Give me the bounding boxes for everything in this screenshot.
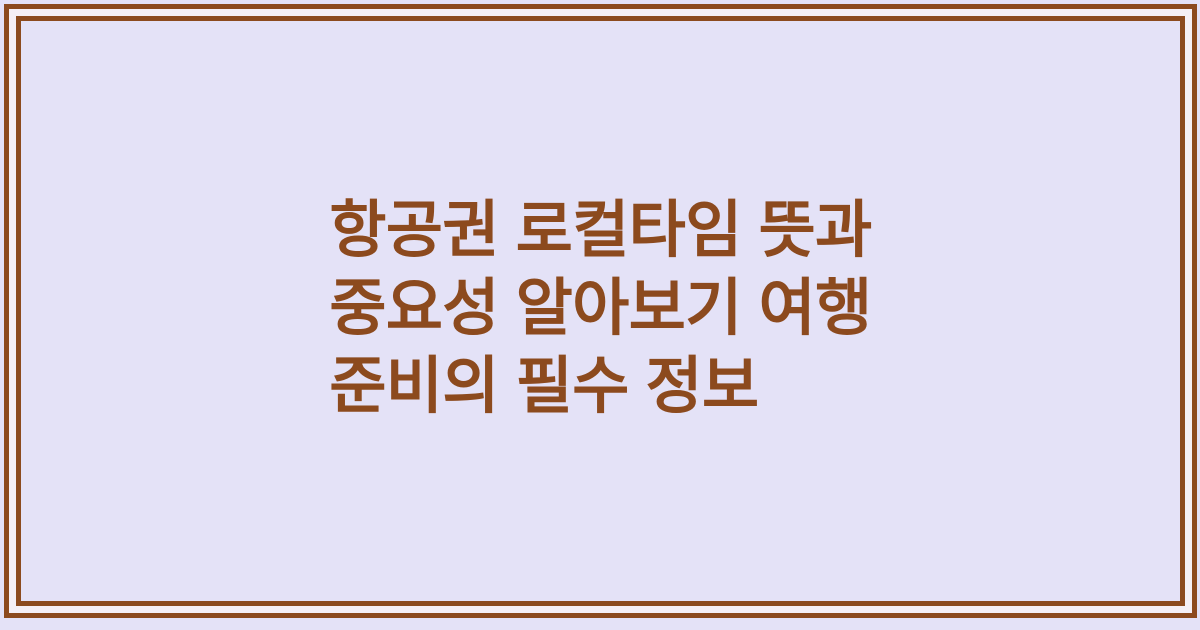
thumbnail-canvas: 항공권 로컬타임 뜻과 중요성 알아보기 여행 준비의 필수 정보 (0, 0, 1200, 630)
outer-decorative-frame: 항공권 로컬타임 뜻과 중요성 알아보기 여행 준비의 필수 정보 (4, 4, 1197, 618)
inner-decorative-frame: 항공권 로컬타임 뜻과 중요성 알아보기 여행 준비의 필수 정보 (16, 16, 1185, 606)
title-line-2: 중요성 알아보기 여행 (329, 270, 871, 348)
title-line-3: 준비의 필수 정보 (329, 348, 871, 426)
title-line-1: 항공권 로컬타임 뜻과 (329, 192, 871, 270)
page-title: 항공권 로컬타임 뜻과 중요성 알아보기 여행 준비의 필수 정보 (329, 192, 871, 426)
title-block: 항공권 로컬타임 뜻과 중요성 알아보기 여행 준비의 필수 정보 (21, 192, 1180, 430)
